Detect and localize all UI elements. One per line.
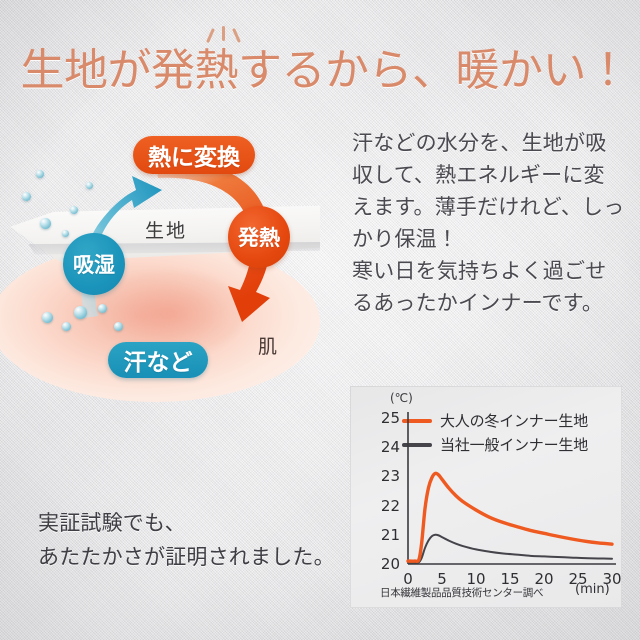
badge-heat-conversion: 熱に変換 [133,136,255,174]
y-axis-tick: 25 [376,409,400,427]
badge-moisture-absorption: 吸湿 [63,233,125,295]
x-axis-unit-label: (min) [575,582,610,597]
description-line: かり保温！ [352,224,640,256]
y-axis-tick: 24 [376,438,400,456]
sparkle-icon [0,26,640,48]
y-axis-tick: 22 [376,497,400,515]
water-droplet-icon [36,170,44,178]
caption-line: あたたかさが証明されました。 [38,540,338,574]
proof-caption: 実証試験でも、 あたたかさが証明されました。 [38,506,338,574]
title-block: 生地が発熱するから、暖かい！ [0,26,640,94]
y-axis-tick: 21 [376,526,400,544]
description-line: 収して、熱エネルギーに変 [352,160,640,192]
badge-sweat: 汗など [108,342,208,378]
description-line: るあったかインナーです。 [352,288,640,320]
water-droplet-icon [62,322,71,331]
y-axis-tick: 23 [376,467,400,485]
description-line: 寒い日を気持ちよく過ごせ [352,256,640,288]
caption-line: 実証試験でも、 [38,506,338,540]
description-line: えます。薄手だけれど、しっ [352,192,640,224]
water-droplet-icon [74,306,87,319]
chart-source-note: 日本繊維製品品質技術センター調べ [380,585,543,600]
skin-label: 肌 [258,332,278,359]
water-droplet-icon [86,182,93,189]
temperature-chart: (℃) 大人の冬インナー生地 当社一般インナー生地 20 21 22 23 24… [350,386,622,608]
water-droplet-icon [98,304,107,313]
mechanism-diagram: 生地 肌 熱に変換 発熱 吸湿 汗など [0,120,345,400]
infographic-canvas: 生地が発熱するから、暖かい！ [0,0,640,640]
page-title: 生地が発熱するから、暖かい！ [0,48,640,94]
description-paragraph: 汗などの水分を、生地が吸 収して、熱エネルギーに変 えます。薄手だけれど、しっ … [352,128,640,319]
water-droplet-icon [22,192,31,201]
water-droplet-icon [42,312,53,323]
badge-heat-generation: 発熱 [228,206,290,268]
water-droplet-icon [114,322,123,331]
water-droplet-icon [40,218,51,229]
fabric-label: 生地 [145,216,187,243]
water-droplet-icon [62,230,69,237]
description-line: 汗などの水分を、生地が吸 [352,128,640,160]
water-droplet-icon [70,206,78,214]
